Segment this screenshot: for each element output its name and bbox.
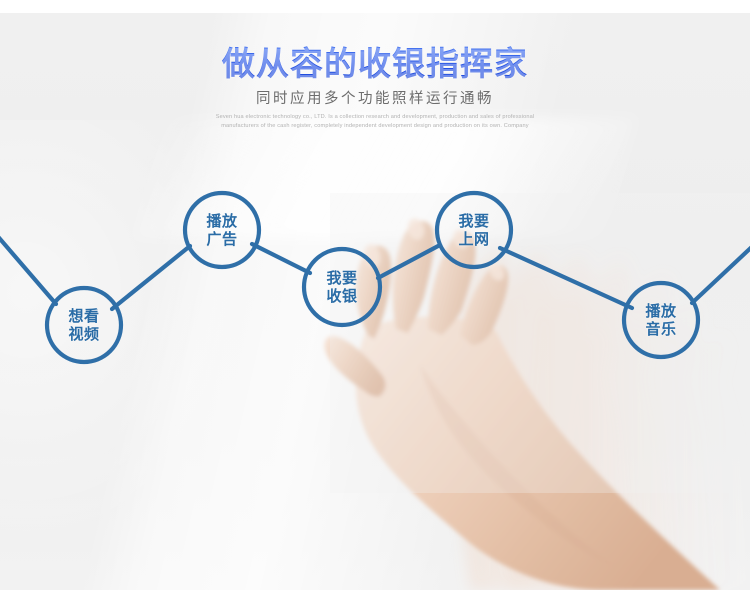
banner-canvas: 做从容的收银指挥家 同时应用多个功能照样运行通畅 Seven hua elect…: [0, 0, 750, 603]
node-video-line1: 想看: [68, 307, 99, 325]
node-label-internet: 我要 上网: [458, 212, 489, 248]
node-internet-line1: 我要: [458, 212, 489, 230]
node-cashier-line2: 收银: [326, 287, 357, 305]
node-internet-line2: 上网: [458, 230, 489, 248]
node-label-video: 想看 视频: [68, 307, 99, 343]
node-ads-line2: 广告: [206, 230, 237, 248]
page-title: 做从容的收银指挥家: [0, 44, 750, 84]
node-music-line1: 播放: [645, 302, 676, 320]
node-label-cashier: 我要 收银: [326, 269, 357, 305]
node-music-line2: 音乐: [645, 320, 676, 338]
top-white-band: [0, 0, 750, 13]
company-description: Seven hua electronic technology co., LTD…: [199, 113, 551, 130]
bottom-white-band: [0, 590, 750, 603]
page-subtitle: 同时应用多个功能照样运行通畅: [0, 89, 750, 109]
header-block: 做从容的收银指挥家 同时应用多个功能照样运行通畅 Seven hua elect…: [0, 44, 750, 130]
node-label-music: 播放 音乐: [645, 302, 676, 338]
node-video-line2: 视频: [68, 325, 99, 343]
node-cashier-line1: 我要: [326, 269, 357, 287]
node-ads-line1: 播放: [206, 212, 237, 230]
node-label-ads: 播放 广告: [206, 212, 237, 248]
